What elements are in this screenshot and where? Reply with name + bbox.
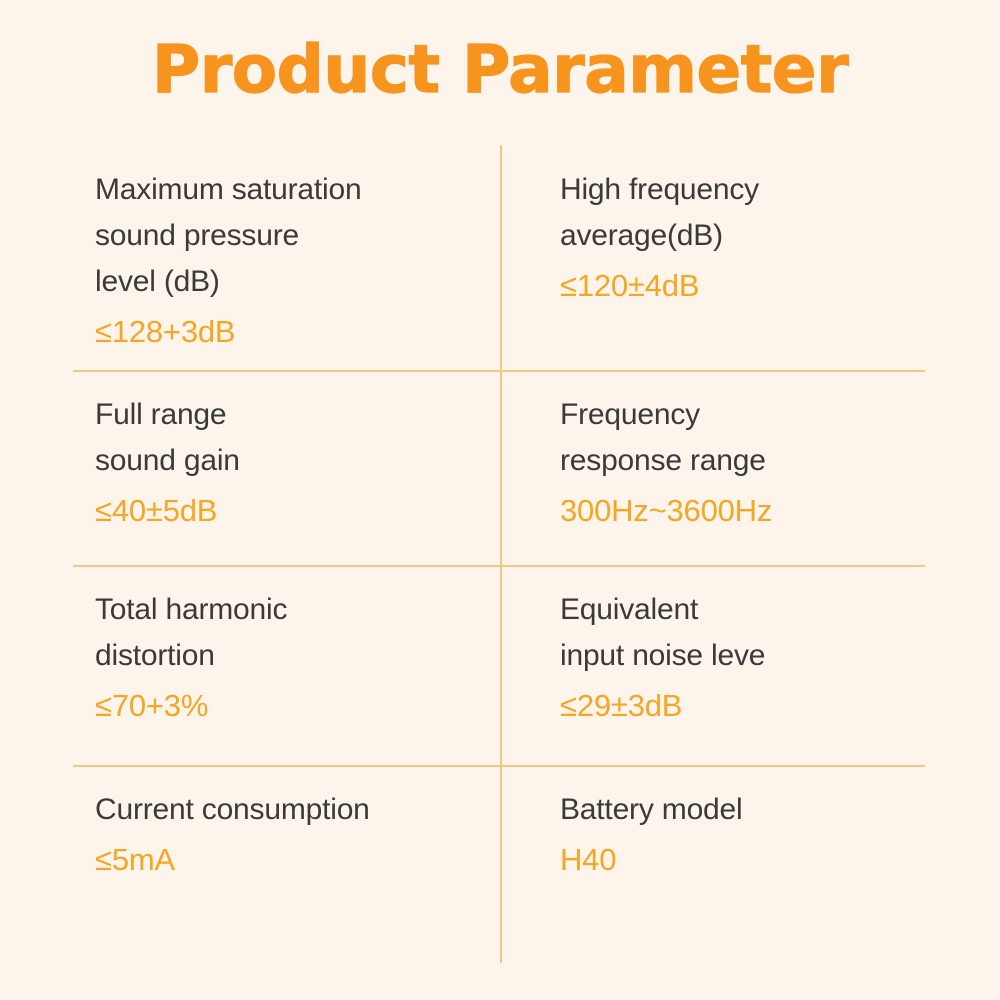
spec-cell: Full range sound gain ≤40±5dB — [73, 370, 500, 565]
spec-cell: High frequency average(dB) ≤120±4dB — [500, 145, 925, 370]
table-row: Full range sound gain ≤40±5dB Frequency … — [73, 370, 925, 565]
spec-cell: Equivalent input noise leve ≤29±3dB — [500, 565, 925, 765]
spec-label: Battery model — [560, 787, 925, 833]
table-row: Total harmonic distortion ≤70+3% Equival… — [73, 565, 925, 765]
spec-value: ≤120±4dB — [560, 263, 925, 310]
spec-value: ≤40±5dB — [95, 488, 500, 535]
spec-cell: Current consumption ≤5mA — [73, 765, 500, 965]
spec-value: H40 — [560, 837, 925, 884]
spec-rows: Maximum saturation sound pressure level … — [73, 145, 925, 965]
spec-label: Full range sound gain — [95, 392, 500, 484]
spec-cell: Frequency response range 300Hz~3600Hz — [500, 370, 925, 565]
spec-table: Maximum saturation sound pressure level … — [73, 145, 925, 965]
spec-cell: Battery model H40 — [500, 765, 925, 965]
spec-value: ≤70+3% — [95, 683, 500, 730]
spec-value: 300Hz~3600Hz — [560, 488, 925, 535]
spec-cell: Total harmonic distortion ≤70+3% — [73, 565, 500, 765]
spec-value: ≤5mA — [95, 837, 500, 884]
spec-label: Maximum saturation sound pressure level … — [95, 167, 500, 305]
page-header: Product Parameter — [0, 0, 1000, 140]
spec-label: Frequency response range — [560, 392, 925, 484]
spec-label: Equivalent input noise leve — [560, 587, 925, 679]
spec-label: High frequency average(dB) — [560, 167, 925, 259]
spec-value: ≤29±3dB — [560, 683, 925, 730]
spec-value: ≤128+3dB — [95, 309, 500, 356]
spec-label: Current consumption — [95, 787, 500, 833]
spec-cell: Maximum saturation sound pressure level … — [73, 145, 500, 370]
table-row: Current consumption ≤5mA Battery model H… — [73, 765, 925, 965]
spec-label: Total harmonic distortion — [95, 587, 500, 679]
table-row: Maximum saturation sound pressure level … — [73, 145, 925, 370]
page-title: Product Parameter — [152, 37, 848, 103]
